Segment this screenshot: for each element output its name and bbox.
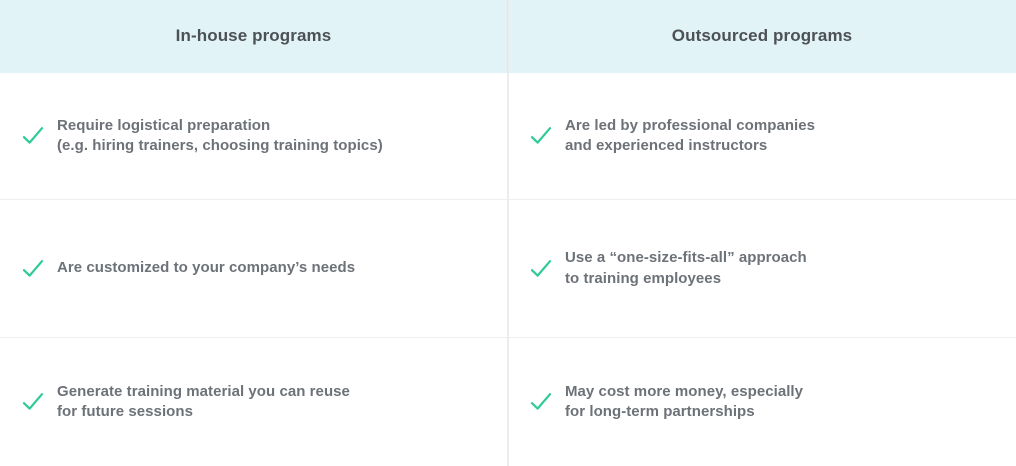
table-row: Are customized to your company’s needs U… xyxy=(0,200,1016,338)
table-row: Require logistical preparation (e.g. hir… xyxy=(0,73,1016,200)
comparison-table: In-house programs Outsourced programs Re… xyxy=(0,0,1016,466)
column-title-outsourced: Outsourced programs xyxy=(672,26,852,46)
check-icon xyxy=(20,256,46,282)
table-cell-outsourced-2: Use a “one-size-fits-all” approach to tr… xyxy=(508,200,1016,337)
check-icon xyxy=(20,389,46,415)
cell-text: Are led by professional companies and ex… xyxy=(565,116,815,157)
check-icon xyxy=(20,123,46,149)
cell-text: Use a “one-size-fits-all” approach to tr… xyxy=(565,248,807,289)
table-body: Require logistical preparation (e.g. hir… xyxy=(0,73,1016,466)
column-title-in-house: In-house programs xyxy=(176,26,332,46)
table-header-cell-in-house: In-house programs xyxy=(0,0,508,73)
table-cell-in-house-2: Are customized to your company’s needs xyxy=(0,200,508,337)
table-cell-in-house-3: Generate training material you can reuse… xyxy=(0,338,508,466)
check-icon xyxy=(528,256,554,282)
cell-text: Are customized to your company’s needs xyxy=(57,258,355,279)
cell-text: Generate training material you can reuse… xyxy=(57,382,350,423)
table-cell-outsourced-3: May cost more money, especially for long… xyxy=(508,338,1016,466)
table-cell-outsourced-1: Are led by professional companies and ex… xyxy=(508,73,1016,199)
table-row: Generate training material you can reuse… xyxy=(0,338,1016,466)
table-cell-in-house-1: Require logistical preparation (e.g. hir… xyxy=(0,73,508,199)
cell-text: Require logistical preparation (e.g. hir… xyxy=(57,116,383,157)
cell-text: May cost more money, especially for long… xyxy=(565,382,803,423)
check-icon xyxy=(528,389,554,415)
check-icon xyxy=(528,123,554,149)
table-header-cell-outsourced: Outsourced programs xyxy=(508,0,1016,73)
